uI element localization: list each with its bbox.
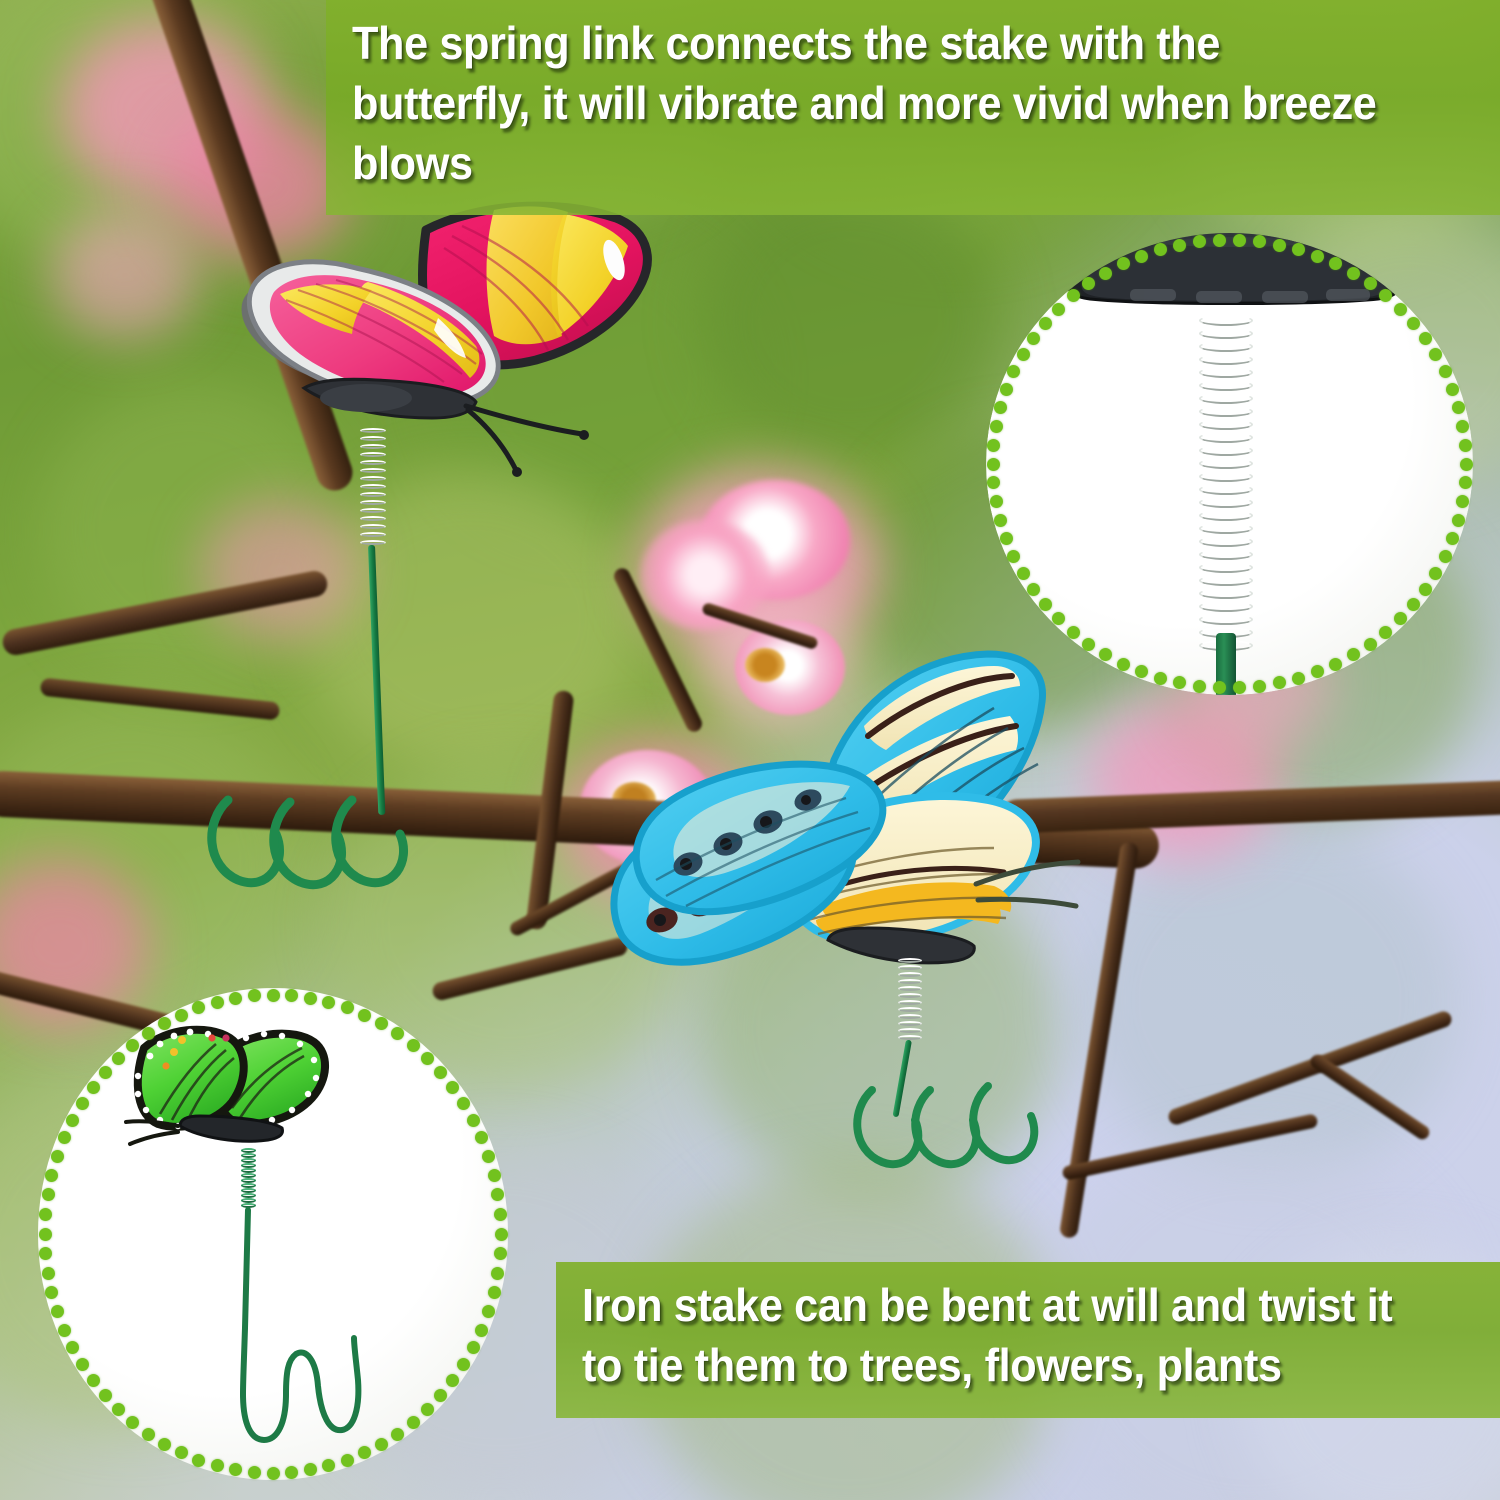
blue-swallowtail-butterfly [596, 648, 1096, 1028]
pink-yellow-butterfly [176, 190, 666, 480]
bottom-text-banner: Iron stake can be bent at will and twist… [556, 1262, 1500, 1418]
stake-detail-callout [38, 988, 508, 1480]
bottom-banner-text: Iron stake can be bent at will and twist… [582, 1276, 1420, 1396]
spring-coil-silver [898, 958, 922, 1044]
product-image-stage: The spring link connects the stake with … [0, 0, 1500, 1500]
spring-coil-silver [360, 428, 386, 548]
dotted-border [986, 233, 1473, 695]
spring-detail-callout [986, 233, 1473, 695]
dotted-border [38, 988, 508, 1480]
top-banner-text: The spring link connects the stake with … [352, 14, 1407, 193]
top-text-banner: The spring link connects the stake with … [326, 0, 1500, 215]
